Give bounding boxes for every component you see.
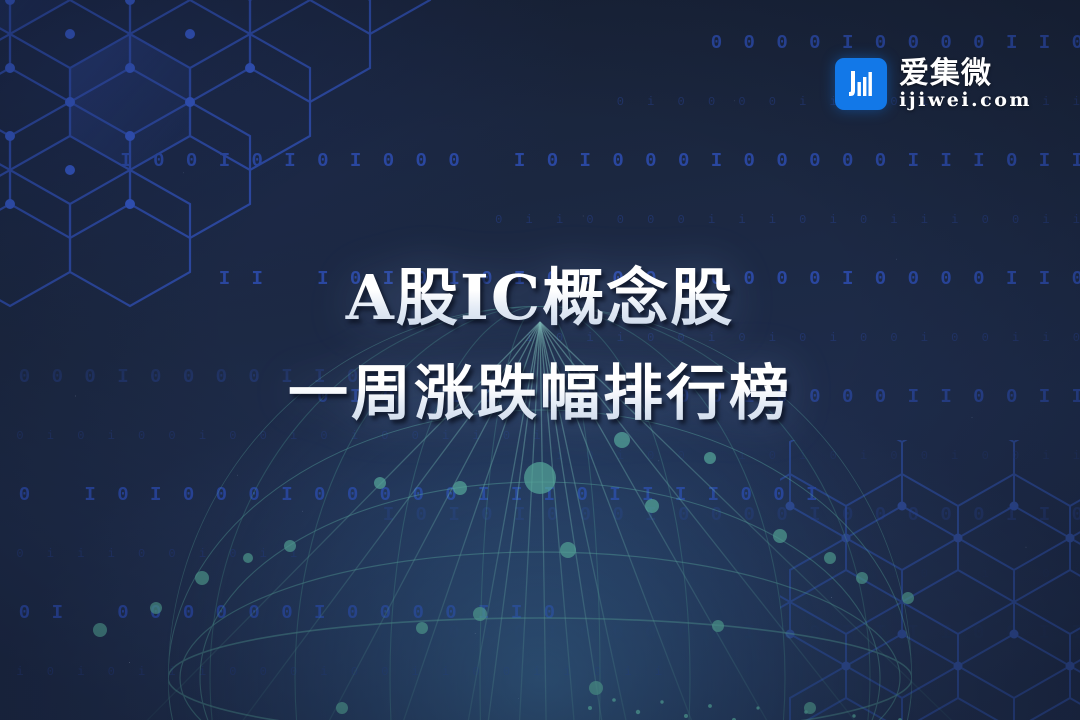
- poster-title-line-1: A股IC概念股: [0, 250, 1080, 346]
- brand-logo[interactable]: 爱集微 ijiwei.com: [835, 58, 1032, 110]
- binary-row: I 0 0 I 0 I 0 I 0 0 0 I 0 I 0 0 0 I 0 0 …: [120, 150, 1080, 173]
- brand-wordmark: 爱集微 ijiwei.com: [899, 59, 1032, 110]
- binary-row: 0 0 0 0 I 0 0 0 0 I I 0: [120, 32, 1080, 55]
- binary-row: 0 i i 0 0 0 0 i i i 0 i 0 i i i 0 0 i i: [120, 209, 1080, 232]
- poster-title-line-2: 一周涨跌幅排行榜: [0, 346, 1080, 442]
- poster-canvas: 0 0 0 0 I 0 0 0 0 I I 0 0 i 0 0 0 0 i i …: [0, 0, 1080, 720]
- bar-chart-logo-icon: [835, 58, 887, 110]
- brand-domain: ijiwei.com: [899, 91, 1032, 110]
- poster-title-block: A股IC概念股 一周涨跌幅排行榜: [0, 250, 1080, 442]
- brand-name-cn: 爱集微: [899, 59, 992, 89]
